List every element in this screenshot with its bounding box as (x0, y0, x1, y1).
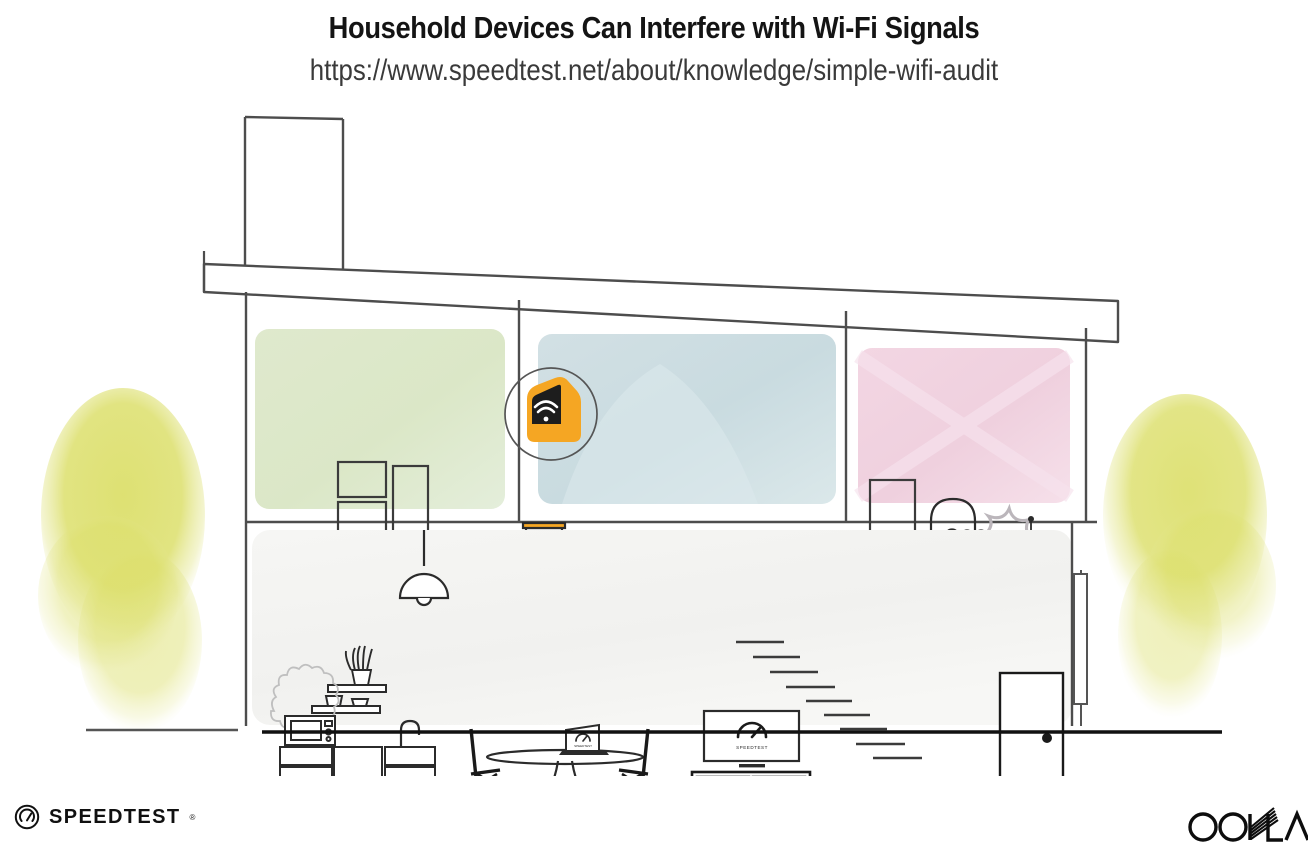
ookla-logo[interactable]: ™ (1186, 806, 1308, 846)
source-url: https://www.speedtest.net/about/knowledg… (92, 46, 1217, 88)
kitchen-cabinets (280, 747, 435, 776)
wifi-router (527, 377, 581, 442)
tv-screen-label: SPEEDTEST (736, 745, 768, 750)
television: SPEEDTEST (704, 711, 799, 767)
ookla-wordmark-icon: ™ (1186, 806, 1308, 846)
speedtest-logo[interactable]: SPEEDTEST ® (14, 804, 195, 830)
media-console (692, 772, 810, 776)
svg-text:SPEEDTEST: SPEEDTEST (574, 744, 592, 748)
footer: SPEEDTEST ® ™ (0, 790, 1308, 850)
page-title: Household Devices Can Interfere with Wi-… (78, 0, 1229, 46)
speedtest-registered-mark: ® (190, 813, 196, 822)
house-cross-section-illustration: SPEEDTEST (0, 96, 1308, 776)
room-ground-floor: SPEEDTEST (246, 522, 1087, 776)
speedtest-wordmark: SPEEDTEST (49, 806, 181, 829)
foliage-left (38, 388, 205, 733)
header: Household Devices Can Interfere with Wi-… (0, 0, 1308, 88)
foliage-right (1103, 394, 1276, 722)
infographic-canvas: Household Devices Can Interfere with Wi-… (0, 0, 1308, 861)
chimney (245, 117, 343, 271)
roof-slab (204, 251, 1118, 342)
front-door (1000, 673, 1063, 776)
speedtest-gauge-icon (14, 804, 40, 830)
ground-line (86, 730, 1222, 732)
door-knob (1042, 733, 1052, 743)
downspout (1074, 570, 1087, 726)
